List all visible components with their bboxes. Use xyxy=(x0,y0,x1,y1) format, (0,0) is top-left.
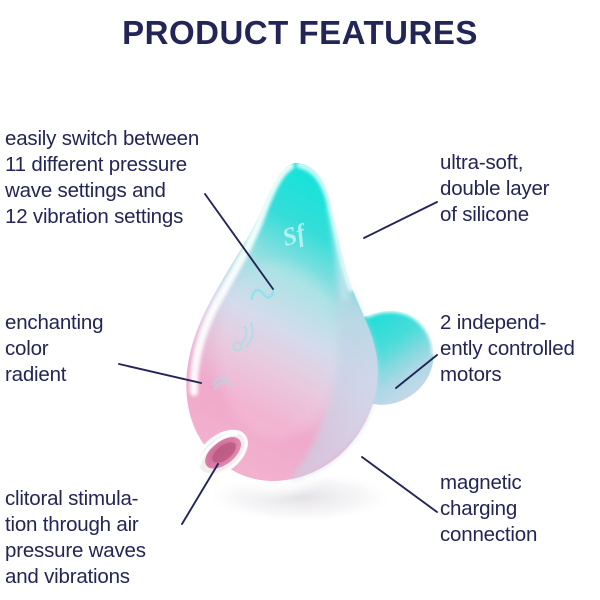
callout-color-gradient: enchanting color radient xyxy=(5,310,185,388)
callout-magnetic-charging: magnetic charging connection xyxy=(440,470,600,548)
product-features-infographic: PRODUCT FEATURES xyxy=(0,0,600,600)
callout-settings: easily switch between 11 different press… xyxy=(5,126,240,230)
callout-motors: 2 independ- ently controlled motors xyxy=(440,310,600,388)
callout-clitoral-stimulation: clitoral stimula- tion through air press… xyxy=(5,486,220,590)
callout-silicone: ultra-soft, double layer of silicone xyxy=(440,150,600,228)
